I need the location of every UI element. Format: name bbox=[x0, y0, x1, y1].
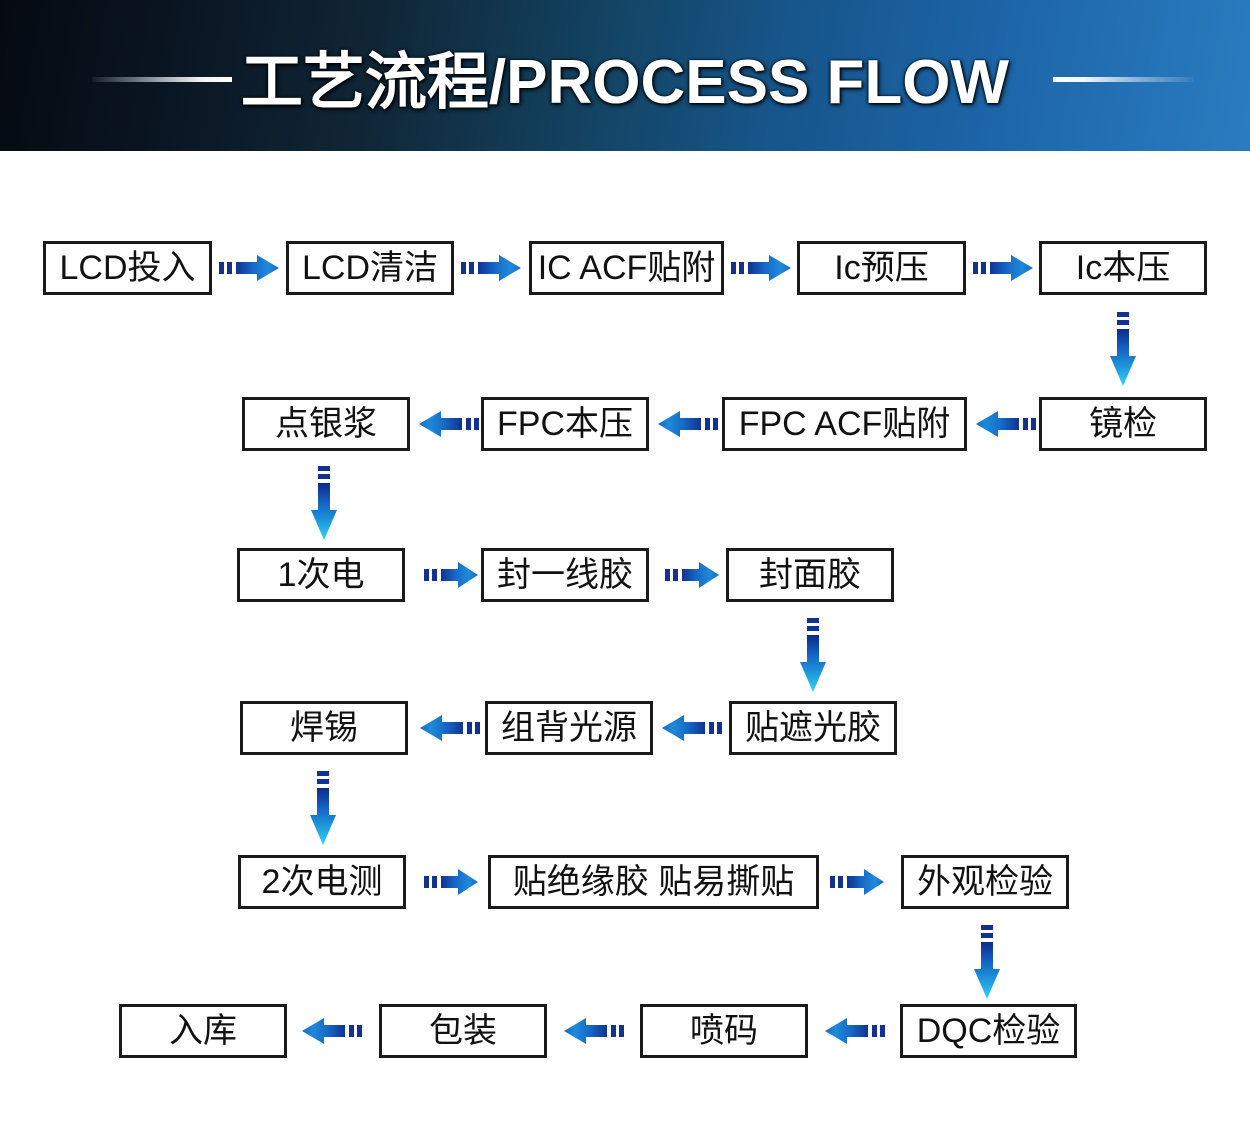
flow-node-silver-paste[interactable]: 点银浆 bbox=[242, 397, 410, 451]
flow-node-lcd-input[interactable]: LCD投入 bbox=[43, 241, 212, 295]
flow-node-label: Ic预压 bbox=[834, 251, 928, 285]
flow-node-label: IC ACF贴附 bbox=[538, 251, 716, 285]
arrow-right-5 bbox=[424, 558, 480, 592]
flow-node-label: 点银浆 bbox=[275, 407, 377, 441]
flow-node-label: 包装 bbox=[429, 1014, 497, 1048]
arrow-down-1 bbox=[1106, 312, 1140, 390]
arrow-left-4 bbox=[418, 711, 480, 745]
arrow-left-2 bbox=[656, 407, 718, 441]
arrow-right-1 bbox=[219, 251, 281, 285]
flow-node-appearance-inspection[interactable]: 外观检验 bbox=[901, 855, 1069, 909]
arrow-left-3 bbox=[974, 407, 1036, 441]
arrow-left-6 bbox=[300, 1014, 362, 1048]
flow-node-label: 镜检 bbox=[1089, 407, 1157, 441]
arrow-right-4 bbox=[973, 251, 1035, 285]
flow-node-label: 1次电 bbox=[278, 558, 365, 592]
flow-node-label: DQC检验 bbox=[917, 1014, 1061, 1048]
flow-node-label: FPC本压 bbox=[497, 407, 633, 441]
flow-node-packaging[interactable]: 包装 bbox=[379, 1004, 547, 1058]
flow-node-lcd-clean[interactable]: LCD清洁 bbox=[286, 241, 454, 295]
arrow-right-7 bbox=[424, 865, 480, 899]
flow-node-seal-line-glue[interactable]: 封一线胶 bbox=[481, 548, 649, 602]
flow-node-label: 入库 bbox=[169, 1014, 237, 1048]
flow-node-insulation-and-easy-tear-tape[interactable]: 贴绝缘胶 贴易撕贴 bbox=[488, 855, 819, 909]
page-title: 工艺流程/PROCESS FLOW bbox=[0, 0, 1250, 151]
arrow-left-7 bbox=[562, 1014, 624, 1048]
arrow-right-8 bbox=[830, 865, 886, 899]
arrow-left-5 bbox=[660, 711, 722, 745]
flow-node-label: 组背光源 bbox=[501, 711, 637, 745]
flow-node-dqc-inspection[interactable]: DQC检验 bbox=[900, 1004, 1077, 1058]
flow-node-ic-acf-attach[interactable]: IC ACF贴附 bbox=[529, 241, 724, 295]
arrow-right-2 bbox=[461, 251, 523, 285]
flow-node-warehouse-in[interactable]: 入库 bbox=[119, 1004, 287, 1058]
flow-node-microscope-inspection[interactable]: 镜检 bbox=[1039, 397, 1207, 451]
flow-node-fpc-mainbond[interactable]: FPC本压 bbox=[481, 397, 649, 451]
flow-node-label: 外观检验 bbox=[917, 865, 1053, 899]
flow-node-soldering[interactable]: 焊锡 bbox=[240, 701, 408, 755]
flow-node-label: Ic本压 bbox=[1076, 251, 1170, 285]
flow-node-first-electrical-test[interactable]: 1次电 bbox=[237, 548, 405, 602]
flow-node-label: 喷码 bbox=[690, 1014, 758, 1048]
flow-node-label: LCD清洁 bbox=[302, 251, 438, 285]
flow-node-assemble-backlight[interactable]: 组背光源 bbox=[485, 701, 653, 755]
flow-node-surface-glue[interactable]: 封面胶 bbox=[726, 548, 894, 602]
arrow-down-3 bbox=[796, 618, 830, 696]
flow-node-label: LCD投入 bbox=[59, 251, 195, 285]
arrow-left-8 bbox=[823, 1014, 885, 1048]
arrow-down-2 bbox=[307, 466, 341, 544]
flow-node-fpc-acf-attach[interactable]: FPC ACF贴附 bbox=[722, 397, 967, 451]
flow-node-label: FPC ACF贴附 bbox=[739, 407, 951, 441]
flow-node-ic-mainbond[interactable]: Ic本压 bbox=[1039, 241, 1207, 295]
process-flow-page: 工艺流程/PROCESS FLOW bbox=[0, 0, 1250, 1127]
flow-node-inkjet-coding[interactable]: 喷码 bbox=[640, 1004, 808, 1058]
flow-node-label: 封一线胶 bbox=[497, 558, 633, 592]
arrow-down-4 bbox=[306, 771, 340, 849]
flow-node-label: 贴绝缘胶 贴易撕贴 bbox=[513, 865, 794, 899]
header-banner: 工艺流程/PROCESS FLOW bbox=[0, 0, 1250, 151]
flow-node-attach-light-blocking-tape[interactable]: 贴遮光胶 bbox=[729, 701, 897, 755]
flow-node-label: 贴遮光胶 bbox=[745, 711, 881, 745]
arrow-right-3 bbox=[731, 251, 793, 285]
flow-node-label: 封面胶 bbox=[759, 558, 861, 592]
arrow-right-6 bbox=[665, 558, 721, 592]
flow-node-label: 焊锡 bbox=[290, 711, 358, 745]
arrow-down-5 bbox=[970, 925, 1004, 1003]
arrow-left-1 bbox=[417, 407, 479, 441]
flow-node-ic-prebond[interactable]: Ic预压 bbox=[797, 241, 966, 295]
flow-node-label: 2次电测 bbox=[262, 865, 383, 899]
flow-node-second-electrical-test[interactable]: 2次电测 bbox=[238, 855, 406, 909]
